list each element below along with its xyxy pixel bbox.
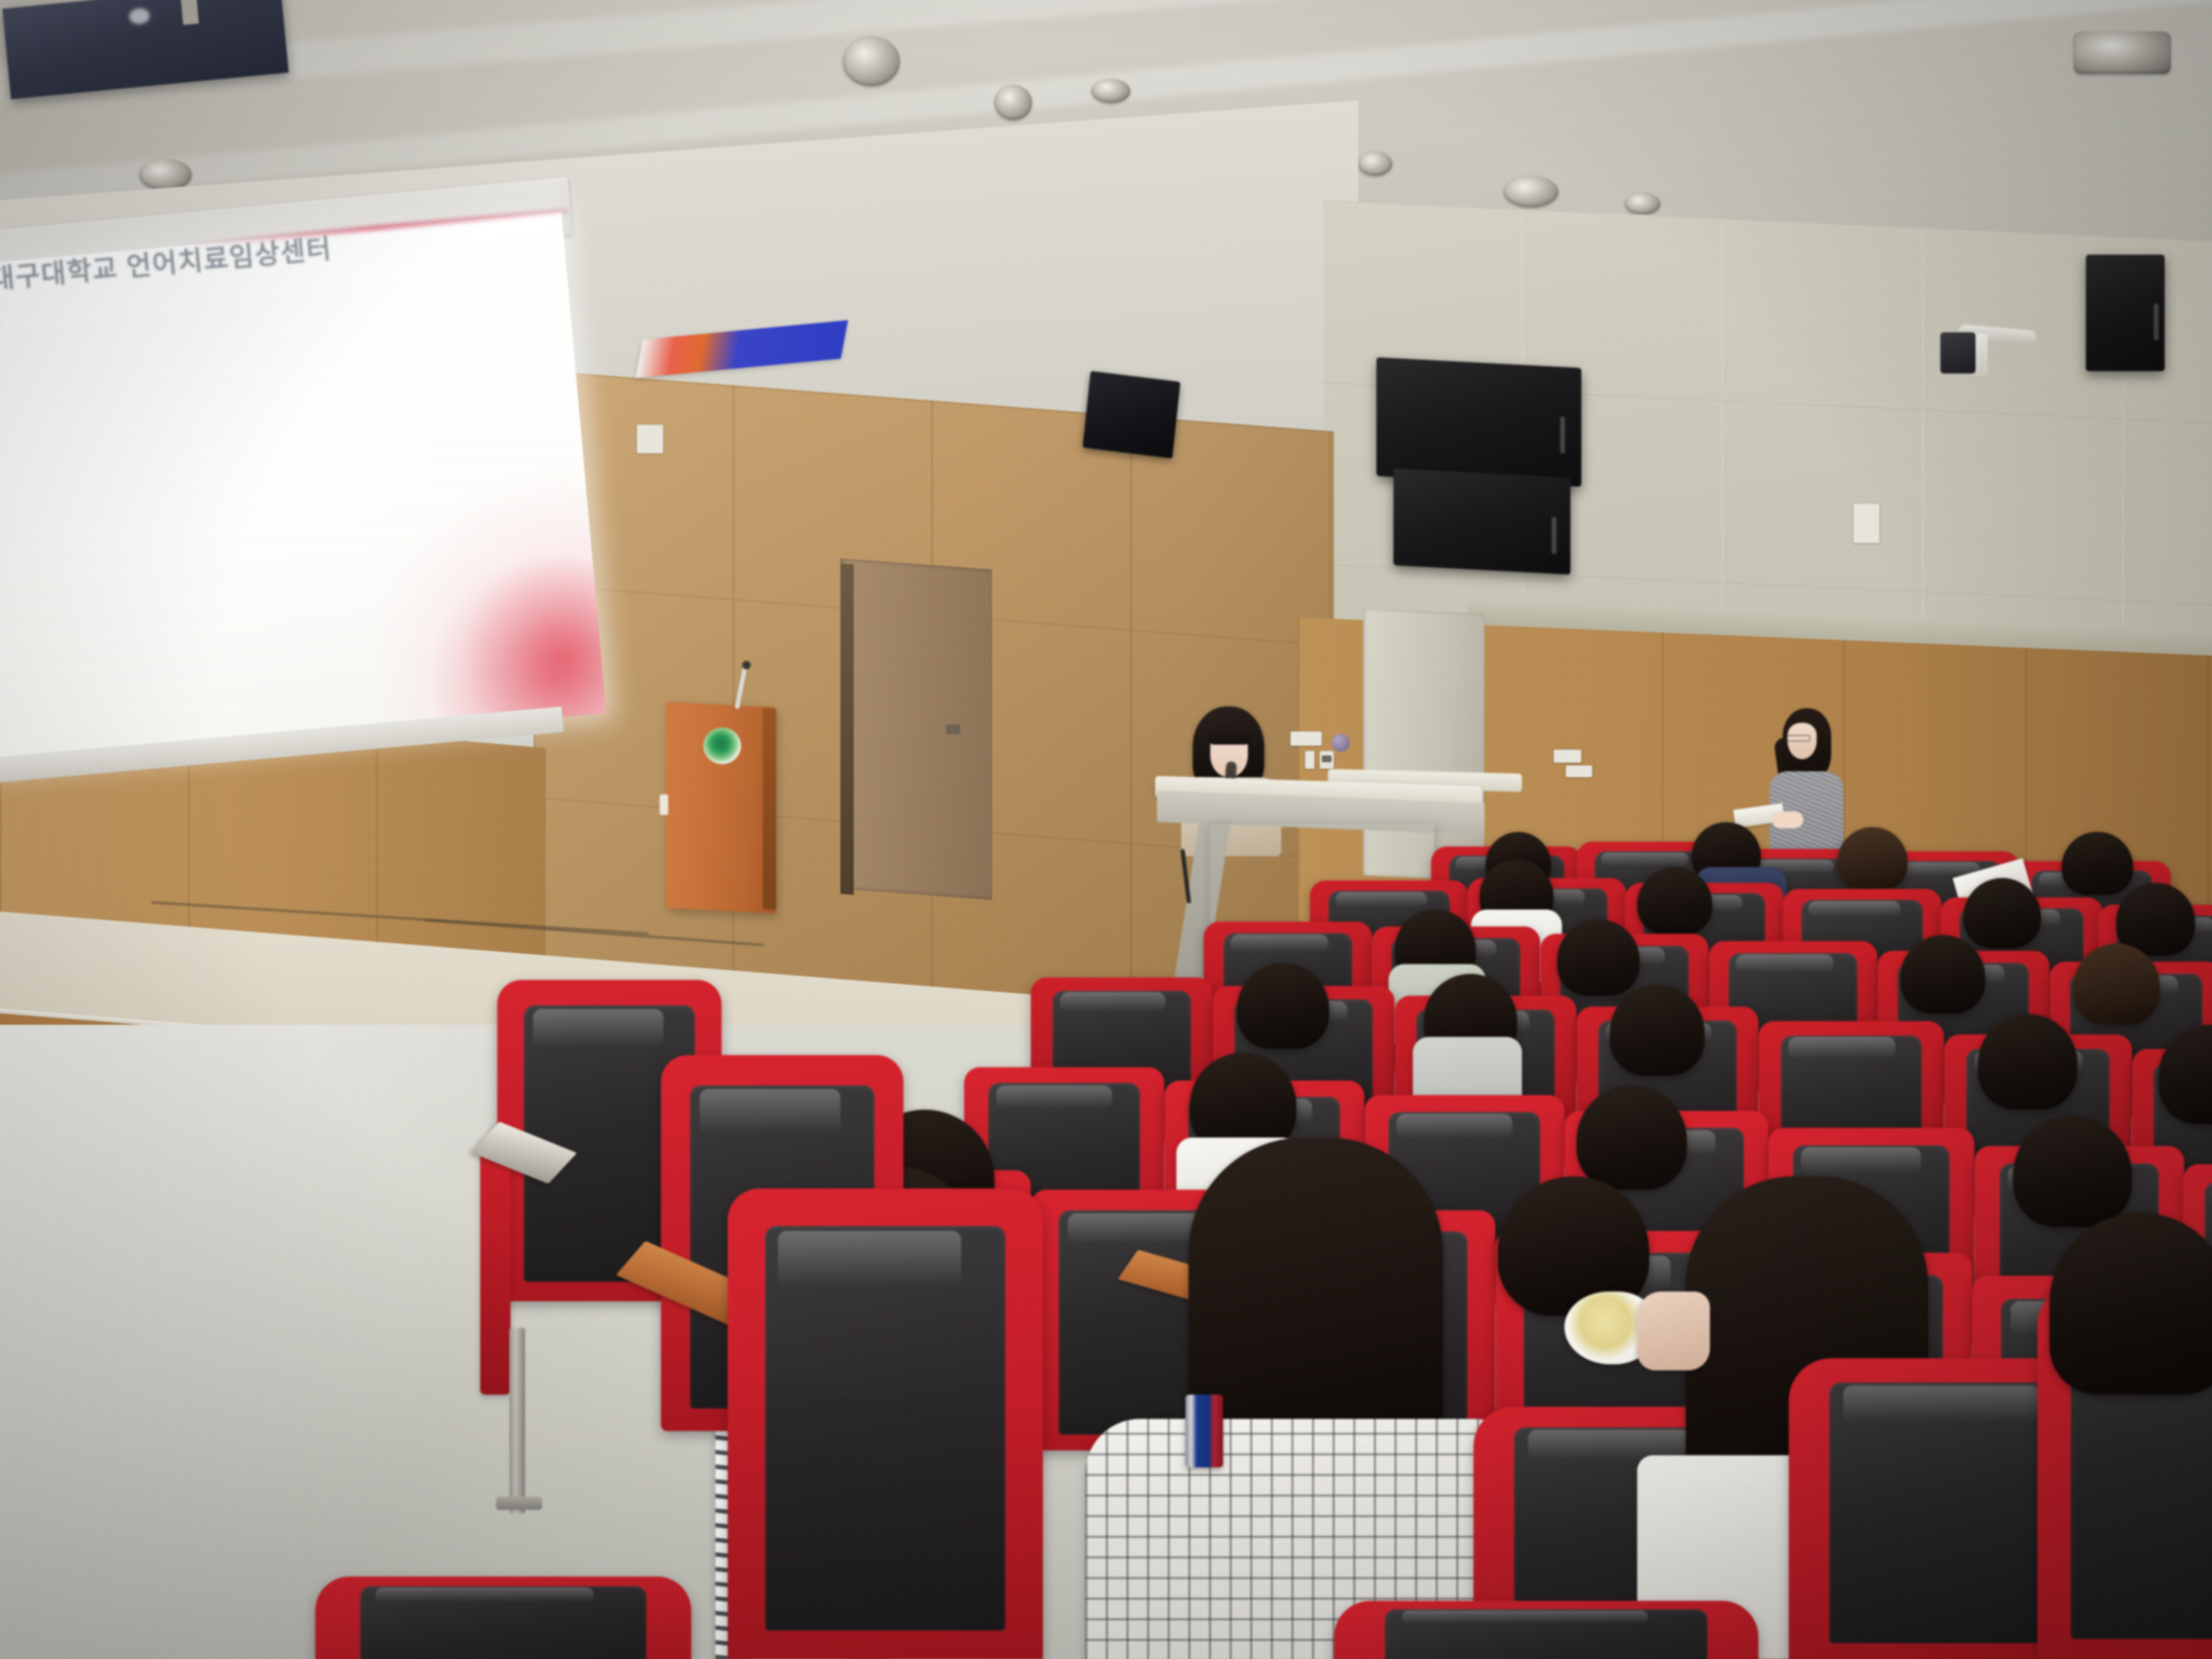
wall-switch-icon[interactable] [1305,751,1315,769]
seat-pedestal-foot [496,1496,542,1510]
seat-armrest [480,1140,511,1395]
wall-speaker-left [1082,371,1180,459]
hand-holding-food [1637,1292,1710,1370]
downlight-icon [1091,79,1130,103]
wall-knob-icon[interactable] [1332,734,1350,752]
security-camera-icon [1940,332,1976,374]
wall-plate-icon[interactable] [1553,749,1581,763]
wall-speaker-stacked-upper [1376,357,1581,487]
projection-screen [0,212,606,768]
wall-plate-icon[interactable] [1566,765,1592,777]
auditorium-photo: 대구대학교 언어치료임상센터 [0,0,2212,1659]
downlight-icon [843,36,900,86]
audience-head [1978,1014,2077,1110]
downlight-icon [994,85,1032,120]
audience-head [1963,878,2041,948]
downlight-icon [1358,152,1392,176]
microphone-icon [742,661,751,669]
audience-head [1837,827,1908,890]
wall-speaker-right [2086,255,2165,371]
audience-head [1557,919,1640,996]
wall-plate-icon[interactable] [1290,731,1322,746]
lectern-side-panel [763,708,776,910]
ceiling-light-panel-icon [2074,32,2171,74]
door-handle-icon[interactable] [946,725,960,734]
lectern-latch-icon[interactable] [660,794,668,815]
wall-speaker-stacked-lower [1393,468,1570,574]
audience-head [1900,935,1985,1014]
wall-plate-icon[interactable] [637,424,663,454]
downlight-icon [1504,176,1558,207]
attendant-hands [1772,811,1803,828]
audience-head [1577,1085,1687,1190]
stage-door[interactable] [840,558,992,900]
audience-head [2074,943,2160,1025]
downlight-icon [139,159,192,190]
audience-head [1637,867,1712,935]
glasses-icon [1786,735,1811,742]
pepsi-can[interactable] [1185,1395,1223,1467]
door-jamb [840,563,854,895]
university-emblem-icon [703,728,741,764]
audience-head [1610,985,1704,1076]
audience-head [2062,832,2133,895]
downlight-icon [1625,193,1660,215]
audience-head [1237,963,1329,1049]
audience-head [2013,1116,2132,1227]
seat[interactable] [1334,1601,1758,1659]
seat[interactable] [728,1188,1043,1659]
presenter-bangs [1208,726,1251,745]
seat[interactable] [315,1577,691,1659]
projector-mount [181,0,199,25]
seat-pedestal [509,1328,525,1513]
wall-outlet-icon[interactable] [1319,751,1334,769]
wall-plate-icon[interactable] [1853,503,1880,543]
